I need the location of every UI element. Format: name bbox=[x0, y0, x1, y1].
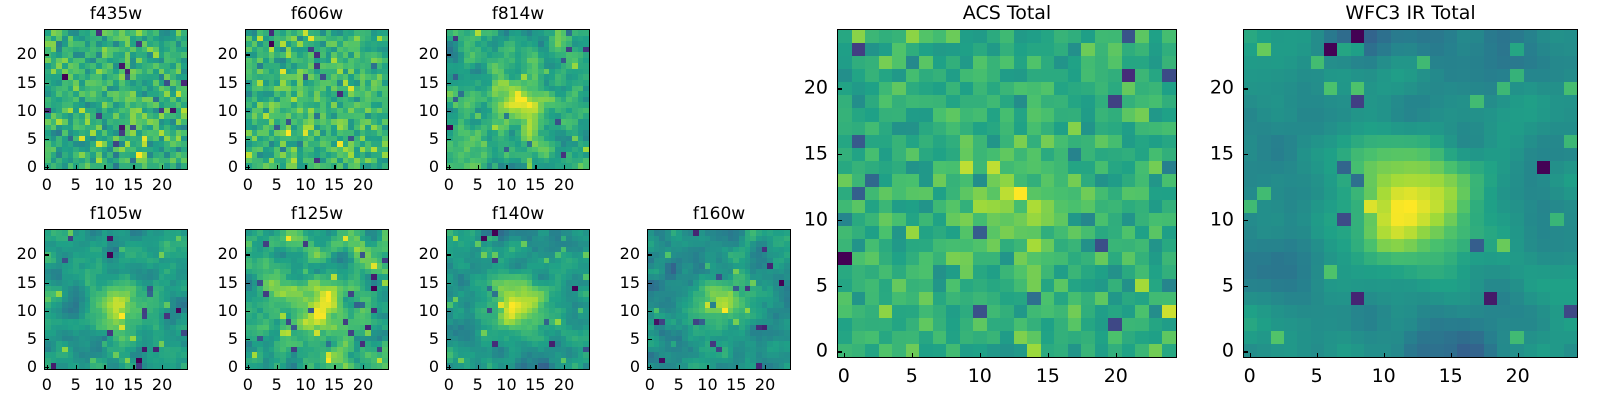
xtick-mark bbox=[104, 365, 105, 370]
heatmap-cells-f140w bbox=[447, 230, 589, 369]
xtick-mark bbox=[363, 365, 364, 370]
xtick-mark bbox=[1048, 353, 1049, 358]
heatmap-cells-f105w bbox=[45, 230, 187, 369]
ytick-label: 0 bbox=[399, 359, 439, 375]
panel-f160w: f160w0510152005101520 bbox=[647, 229, 791, 370]
xtick-mark bbox=[277, 365, 278, 370]
ytick-mark bbox=[647, 339, 652, 340]
ytick-mark bbox=[245, 339, 250, 340]
xtick-label: 15 bbox=[525, 177, 545, 193]
ytick-mark bbox=[245, 254, 250, 255]
xtick-mark bbox=[1250, 353, 1251, 358]
xtick-mark bbox=[506, 365, 507, 370]
heatmap-cells-f814w bbox=[447, 30, 589, 169]
ytick-mark bbox=[446, 139, 451, 140]
xtick-label: 10 bbox=[1372, 367, 1396, 386]
xtick-label: 20 bbox=[554, 377, 574, 393]
ytick-label: 10 bbox=[600, 303, 640, 319]
ytick-label: 5 bbox=[198, 131, 238, 147]
ytick-mark bbox=[1243, 88, 1248, 89]
xtick-label: 10 bbox=[295, 377, 315, 393]
xtick-mark bbox=[564, 365, 565, 370]
ytick-label: 10 bbox=[198, 103, 238, 119]
ytick-mark bbox=[44, 139, 49, 140]
xtick-label: 20 bbox=[554, 177, 574, 193]
xtick-mark bbox=[1116, 353, 1117, 358]
xtick-mark bbox=[765, 365, 766, 370]
ytick-mark bbox=[446, 167, 451, 168]
ytick-mark bbox=[1243, 154, 1248, 155]
ytick-label: 0 bbox=[198, 359, 238, 375]
xtick-label: 0 bbox=[645, 377, 655, 393]
ytick-mark bbox=[44, 167, 49, 168]
panel-title-f105w: f105w bbox=[44, 206, 188, 223]
xtick-mark bbox=[162, 365, 163, 370]
panel-title-f606w: f606w bbox=[245, 6, 389, 23]
panel-title-f160w: f160w bbox=[647, 206, 791, 223]
ytick-label: 10 bbox=[399, 303, 439, 319]
xtick-mark bbox=[980, 353, 981, 358]
ytick-label: 5 bbox=[1194, 276, 1234, 295]
xtick-mark bbox=[736, 365, 737, 370]
panel-wfc3-ir-total: WFC3 IR Total0510152005101520 bbox=[1243, 29, 1578, 358]
xtick-mark bbox=[478, 165, 479, 170]
xtick-label: 10 bbox=[496, 377, 516, 393]
heatmap-axes-f125w bbox=[245, 229, 389, 370]
xtick-mark bbox=[334, 365, 335, 370]
ytick-label: 0 bbox=[399, 159, 439, 175]
ytick-label: 15 bbox=[198, 75, 238, 91]
xtick-label: 10 bbox=[295, 177, 315, 193]
ytick-mark bbox=[446, 83, 451, 84]
ytick-label: 10 bbox=[788, 210, 828, 229]
xtick-mark bbox=[133, 165, 134, 170]
panel-f814w: f814w0510152005101520 bbox=[446, 29, 590, 170]
xtick-label: 5 bbox=[473, 377, 483, 393]
xtick-label: 0 bbox=[1244, 367, 1256, 386]
xtick-mark bbox=[707, 365, 708, 370]
ytick-mark bbox=[44, 311, 49, 312]
ytick-label: 5 bbox=[0, 131, 37, 147]
xtick-mark bbox=[162, 165, 163, 170]
heatmap-axes-f814w bbox=[446, 29, 590, 170]
ytick-mark bbox=[44, 111, 49, 112]
ytick-label: 15 bbox=[399, 75, 439, 91]
xtick-mark bbox=[1384, 353, 1385, 358]
heatmap-cells-f606w bbox=[246, 30, 388, 169]
ytick-mark bbox=[837, 154, 842, 155]
ytick-label: 20 bbox=[788, 79, 828, 98]
xtick-label: 5 bbox=[272, 177, 282, 193]
xtick-mark bbox=[133, 365, 134, 370]
ytick-mark bbox=[44, 83, 49, 84]
xtick-mark bbox=[363, 165, 364, 170]
ytick-label: 10 bbox=[198, 303, 238, 319]
ytick-mark bbox=[1243, 286, 1248, 287]
xtick-label: 10 bbox=[496, 177, 516, 193]
ytick-label: 5 bbox=[600, 331, 640, 347]
xtick-label: 10 bbox=[94, 377, 114, 393]
ytick-label: 15 bbox=[0, 275, 37, 291]
panel-title-f435w: f435w bbox=[44, 6, 188, 23]
xtick-mark bbox=[535, 365, 536, 370]
xtick-label: 15 bbox=[324, 177, 344, 193]
heatmap-axes-f606w bbox=[245, 29, 389, 170]
xtick-mark bbox=[1451, 353, 1452, 358]
xtick-label: 0 bbox=[42, 377, 52, 393]
ytick-label: 0 bbox=[0, 159, 37, 175]
ytick-label: 20 bbox=[399, 246, 439, 262]
ytick-mark bbox=[245, 54, 250, 55]
panel-title-wfc3-ir-total: WFC3 IR Total bbox=[1243, 4, 1578, 23]
ytick-mark bbox=[44, 367, 49, 368]
xtick-label: 20 bbox=[755, 377, 775, 393]
ytick-mark bbox=[837, 286, 842, 287]
ytick-label: 10 bbox=[0, 103, 37, 119]
xtick-label: 15 bbox=[525, 377, 545, 393]
panel-title-acs-total: ACS Total bbox=[837, 4, 1177, 23]
panel-title-f140w: f140w bbox=[446, 206, 590, 223]
ytick-label: 5 bbox=[399, 331, 439, 347]
xtick-label: 15 bbox=[123, 177, 143, 193]
heatmap-axes-f160w bbox=[647, 229, 791, 370]
xtick-label: 20 bbox=[152, 177, 172, 193]
heatmap-cells-f435w bbox=[45, 30, 187, 169]
ytick-label: 0 bbox=[1194, 342, 1234, 361]
ytick-label: 5 bbox=[0, 331, 37, 347]
xtick-label: 20 bbox=[1104, 367, 1128, 386]
xtick-label: 15 bbox=[1439, 367, 1463, 386]
ytick-mark bbox=[1243, 220, 1248, 221]
xtick-mark bbox=[912, 353, 913, 358]
ytick-mark bbox=[44, 283, 49, 284]
heatmap-axes-f105w bbox=[44, 229, 188, 370]
ytick-mark bbox=[44, 339, 49, 340]
ytick-mark bbox=[44, 54, 49, 55]
xtick-mark bbox=[334, 165, 335, 170]
xtick-label: 10 bbox=[94, 177, 114, 193]
ytick-mark bbox=[245, 139, 250, 140]
ytick-mark bbox=[647, 311, 652, 312]
heatmap-cells-f125w bbox=[246, 230, 388, 369]
xtick-label: 0 bbox=[42, 177, 52, 193]
ytick-mark bbox=[837, 351, 842, 352]
panel-f140w: f140w0510152005101520 bbox=[446, 229, 590, 370]
panel-acs-total: ACS Total0510152005101520 bbox=[837, 29, 1177, 358]
heatmap-axes-f435w bbox=[44, 29, 188, 170]
panel-title-f125w: f125w bbox=[245, 206, 389, 223]
xtick-mark bbox=[277, 165, 278, 170]
xtick-label: 0 bbox=[243, 177, 253, 193]
ytick-mark bbox=[245, 167, 250, 168]
xtick-label: 15 bbox=[123, 377, 143, 393]
ytick-mark bbox=[647, 367, 652, 368]
ytick-label: 5 bbox=[788, 276, 828, 295]
ytick-label: 15 bbox=[198, 275, 238, 291]
ytick-mark bbox=[446, 111, 451, 112]
heatmap-cells-wfc3-ir-total bbox=[1244, 30, 1577, 357]
ytick-label: 15 bbox=[399, 275, 439, 291]
ytick-label: 5 bbox=[399, 131, 439, 147]
xtick-label: 15 bbox=[1036, 367, 1060, 386]
xtick-label: 5 bbox=[272, 377, 282, 393]
xtick-label: 5 bbox=[906, 367, 918, 386]
xtick-label: 0 bbox=[444, 377, 454, 393]
ytick-mark bbox=[245, 283, 250, 284]
xtick-label: 5 bbox=[1311, 367, 1323, 386]
ytick-label: 20 bbox=[0, 246, 37, 262]
xtick-label: 10 bbox=[697, 377, 717, 393]
ytick-label: 0 bbox=[788, 342, 828, 361]
ytick-label: 0 bbox=[0, 359, 37, 375]
xtick-label: 15 bbox=[726, 377, 746, 393]
xtick-mark bbox=[679, 365, 680, 370]
ytick-mark bbox=[647, 254, 652, 255]
heatmap-axes-acs-total bbox=[837, 29, 1177, 358]
xtick-label: 20 bbox=[152, 377, 172, 393]
xtick-mark bbox=[1317, 353, 1318, 358]
xtick-label: 0 bbox=[444, 177, 454, 193]
ytick-mark bbox=[446, 311, 451, 312]
xtick-mark bbox=[305, 365, 306, 370]
xtick-label: 20 bbox=[353, 177, 373, 193]
ytick-label: 20 bbox=[0, 46, 37, 62]
ytick-mark bbox=[245, 83, 250, 84]
xtick-label: 10 bbox=[968, 367, 992, 386]
xtick-label: 20 bbox=[1506, 367, 1530, 386]
xtick-label: 15 bbox=[324, 377, 344, 393]
ytick-mark bbox=[245, 367, 250, 368]
ytick-label: 20 bbox=[399, 46, 439, 62]
xtick-mark bbox=[1518, 353, 1519, 358]
heatmap-cells-acs-total bbox=[838, 30, 1176, 357]
xtick-label: 5 bbox=[473, 177, 483, 193]
xtick-mark bbox=[535, 165, 536, 170]
ytick-mark bbox=[446, 367, 451, 368]
ytick-label: 20 bbox=[198, 46, 238, 62]
heatmap-cells-f160w bbox=[648, 230, 790, 369]
panel-f105w: f105w0510152005101520 bbox=[44, 229, 188, 370]
ytick-mark bbox=[837, 220, 842, 221]
ytick-mark bbox=[245, 311, 250, 312]
ytick-label: 0 bbox=[198, 159, 238, 175]
xtick-mark bbox=[104, 165, 105, 170]
ytick-label: 10 bbox=[399, 103, 439, 119]
xtick-mark bbox=[76, 165, 77, 170]
ytick-label: 20 bbox=[1194, 79, 1234, 98]
ytick-mark bbox=[446, 254, 451, 255]
ytick-label: 15 bbox=[788, 145, 828, 164]
figure-canvas: f435w0510152005101520f606w05101520051015… bbox=[0, 0, 1600, 400]
xtick-mark bbox=[844, 353, 845, 358]
xtick-label: 0 bbox=[838, 367, 850, 386]
xtick-mark bbox=[76, 365, 77, 370]
ytick-label: 5 bbox=[198, 331, 238, 347]
ytick-mark bbox=[837, 88, 842, 89]
heatmap-axes-f140w bbox=[446, 229, 590, 370]
ytick-label: 15 bbox=[1194, 145, 1234, 164]
ytick-label: 0 bbox=[600, 359, 640, 375]
xtick-label: 0 bbox=[243, 377, 253, 393]
xtick-label: 5 bbox=[674, 377, 684, 393]
xtick-label: 20 bbox=[353, 377, 373, 393]
heatmap-axes-wfc3-ir-total bbox=[1243, 29, 1578, 358]
ytick-mark bbox=[245, 111, 250, 112]
ytick-mark bbox=[446, 283, 451, 284]
ytick-label: 20 bbox=[600, 246, 640, 262]
ytick-mark bbox=[44, 254, 49, 255]
panel-f125w: f125w0510152005101520 bbox=[245, 229, 389, 370]
ytick-label: 10 bbox=[0, 303, 37, 319]
xtick-mark bbox=[506, 165, 507, 170]
xtick-mark bbox=[478, 365, 479, 370]
xtick-mark bbox=[564, 165, 565, 170]
xtick-label: 5 bbox=[71, 177, 81, 193]
ytick-mark bbox=[1243, 351, 1248, 352]
panel-title-f814w: f814w bbox=[446, 6, 590, 23]
ytick-label: 15 bbox=[0, 75, 37, 91]
xtick-mark bbox=[305, 165, 306, 170]
panel-f606w: f606w0510152005101520 bbox=[245, 29, 389, 170]
ytick-mark bbox=[647, 283, 652, 284]
ytick-label: 15 bbox=[600, 275, 640, 291]
xtick-label: 5 bbox=[71, 377, 81, 393]
panel-f435w: f435w0510152005101520 bbox=[44, 29, 188, 170]
ytick-label: 10 bbox=[1194, 210, 1234, 229]
ytick-mark bbox=[446, 339, 451, 340]
ytick-mark bbox=[446, 54, 451, 55]
ytick-label: 20 bbox=[198, 246, 238, 262]
